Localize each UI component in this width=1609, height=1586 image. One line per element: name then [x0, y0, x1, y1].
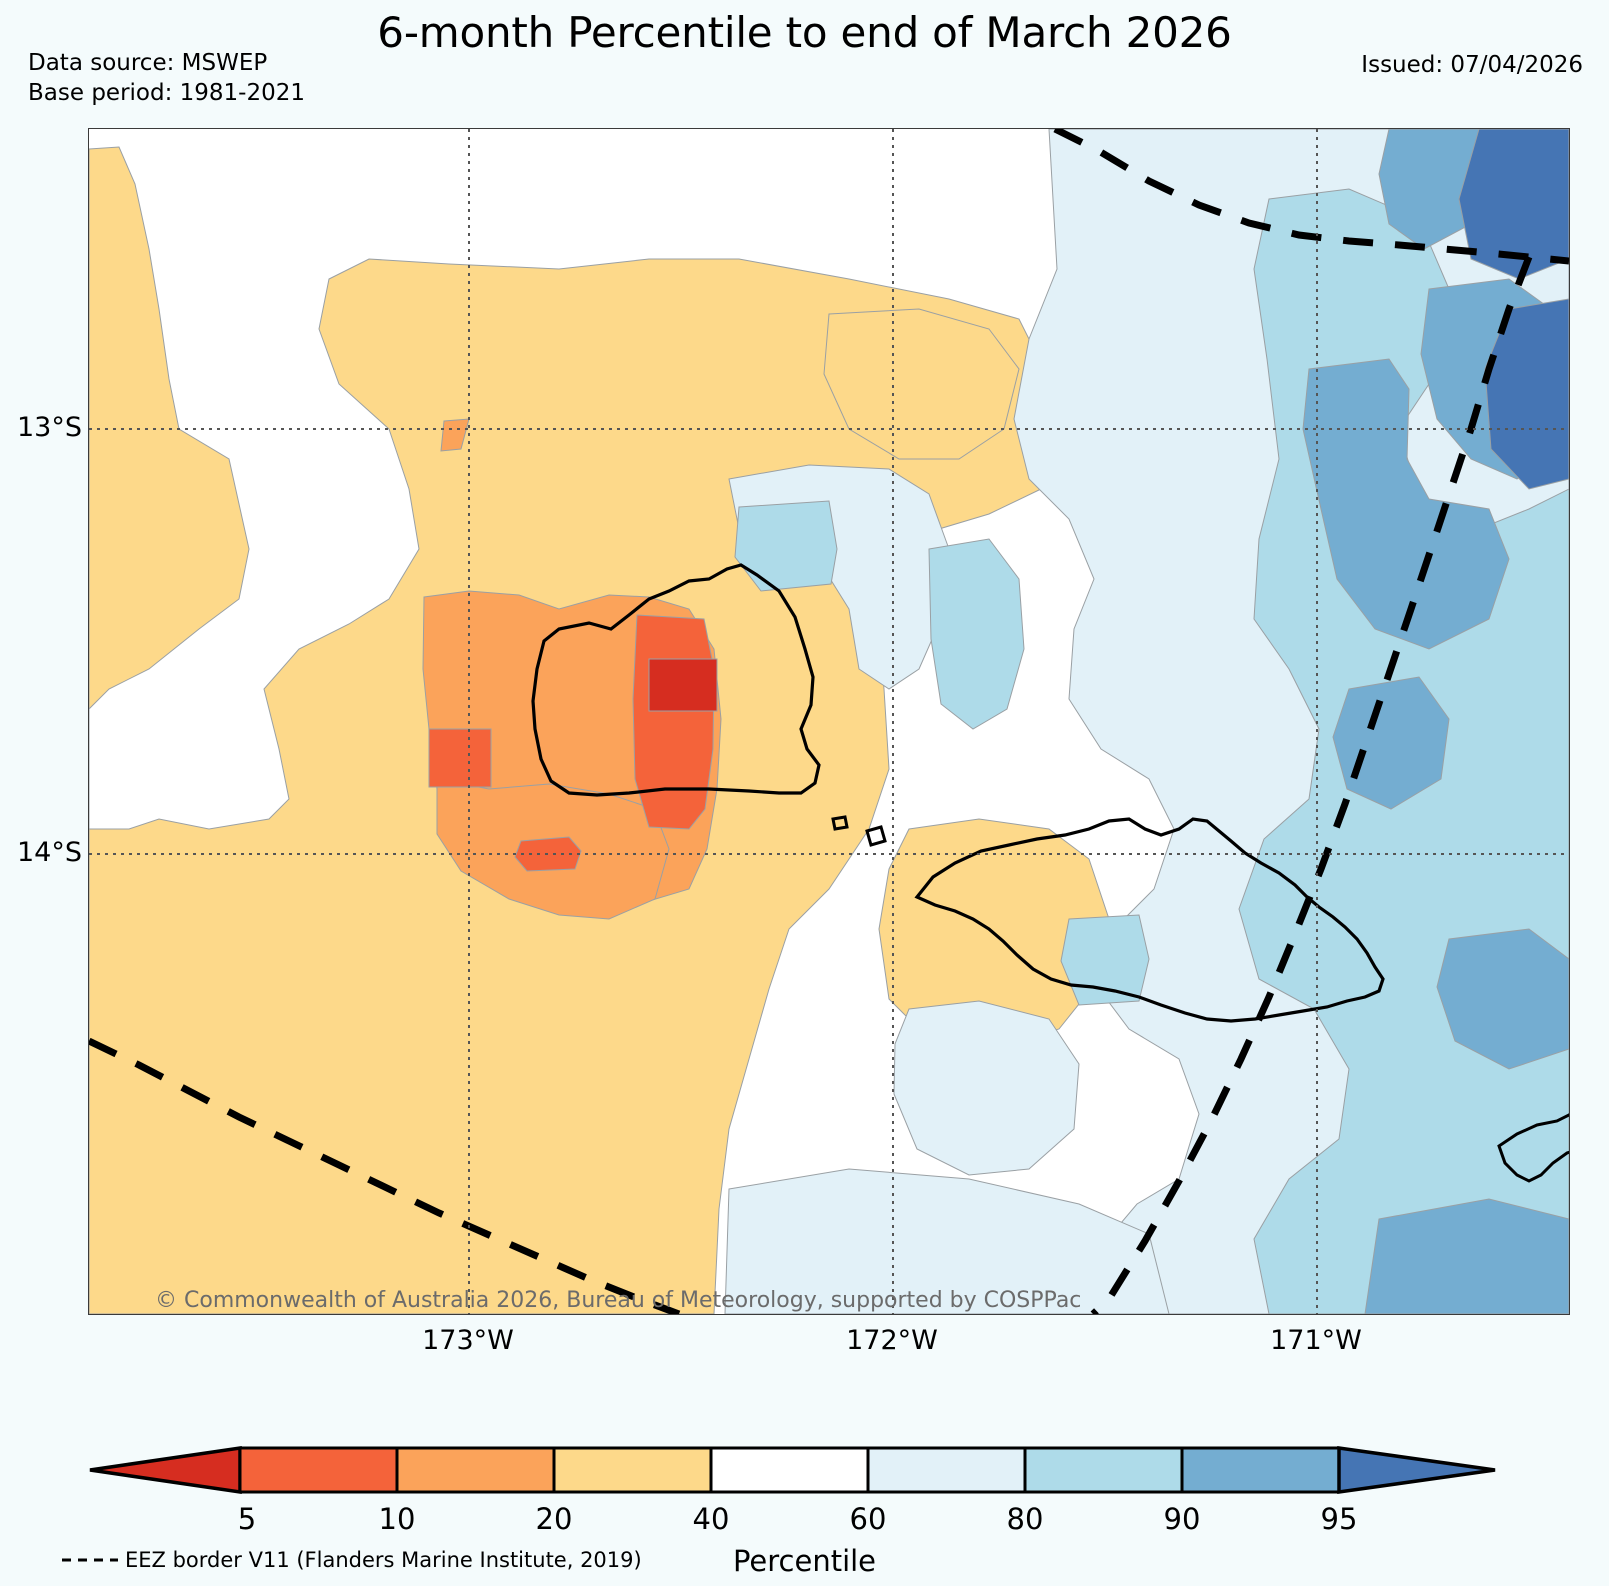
xtick-172w: 172°W [792, 1325, 992, 1356]
colorbar-band-gt95 [1339, 1448, 1495, 1492]
band-80-90-north-square [735, 501, 837, 591]
band-80-90-lowmid-square [1061, 915, 1149, 1005]
band-80-90-central-patch [929, 539, 1024, 729]
eez-border-legend: EEZ border V11 (Flanders Marine Institut… [62, 1548, 642, 1572]
band-90-95-bottom-right [1365, 1199, 1569, 1314]
colorbar-band-10-20 [397, 1448, 554, 1492]
colorbar-tick-60: 60 [808, 1502, 928, 1536]
band-5-10-west-square [429, 729, 491, 787]
percentile-contour-map [89, 129, 1569, 1314]
ytick-13s: 13°S [0, 412, 82, 443]
colorbar-band-60-80 [868, 1448, 1025, 1492]
colorbar-band-80-90 [1025, 1448, 1182, 1492]
colorbar-tick-95: 95 [1279, 1502, 1399, 1536]
colorbar[interactable]: 5 10 20 40 60 80 90 95 Percentile EEZ bo… [0, 1440, 1609, 1586]
band-lt5-core [649, 659, 717, 711]
colorbar-band-20-40 [554, 1448, 711, 1492]
colorbar-band-90-95 [1182, 1448, 1339, 1492]
colorbar-swatches [0, 1440, 1609, 1500]
colorbar-tick-5: 5 [187, 1502, 307, 1536]
xtick-171w: 171°W [1216, 1325, 1416, 1356]
colorbar-tick-40: 40 [651, 1502, 771, 1536]
contour-fill-group [89, 129, 1569, 1314]
colorbar-tick-80: 80 [965, 1502, 1085, 1536]
issued-date-label: Issued: 07/04/2026 [1361, 52, 1583, 78]
colorbar-tick-20: 20 [494, 1502, 614, 1536]
colorbar-tick-90: 90 [1122, 1502, 1242, 1536]
colorbar-band-40-60 [711, 1448, 868, 1492]
band-60-80-lower-mid [894, 1001, 1079, 1175]
eez-legend-label: EEZ border V11 (Flanders Marine Institut… [125, 1548, 642, 1572]
map-plot-area[interactable] [88, 128, 1570, 1315]
xtick-173w: 173°W [368, 1325, 568, 1356]
colorbar-band-lt5 [90, 1448, 240, 1492]
metadata-left: Data source: MSWEP Base period: 1981-202… [28, 48, 305, 108]
eez-dash-icon [62, 1554, 118, 1566]
ytick-14s: 14°S [0, 837, 82, 868]
colorbar-tick-10: 10 [337, 1502, 457, 1536]
band-5-10-east-savaii [633, 615, 714, 829]
data-source-label: Data source: MSWEP [28, 48, 305, 78]
map-copyright: © Commonwealth of Australia 2026, Bureau… [155, 1288, 1081, 1313]
colorbar-band-5-10 [240, 1448, 397, 1492]
base-period-label: Base period: 1981-2021 [28, 78, 305, 108]
